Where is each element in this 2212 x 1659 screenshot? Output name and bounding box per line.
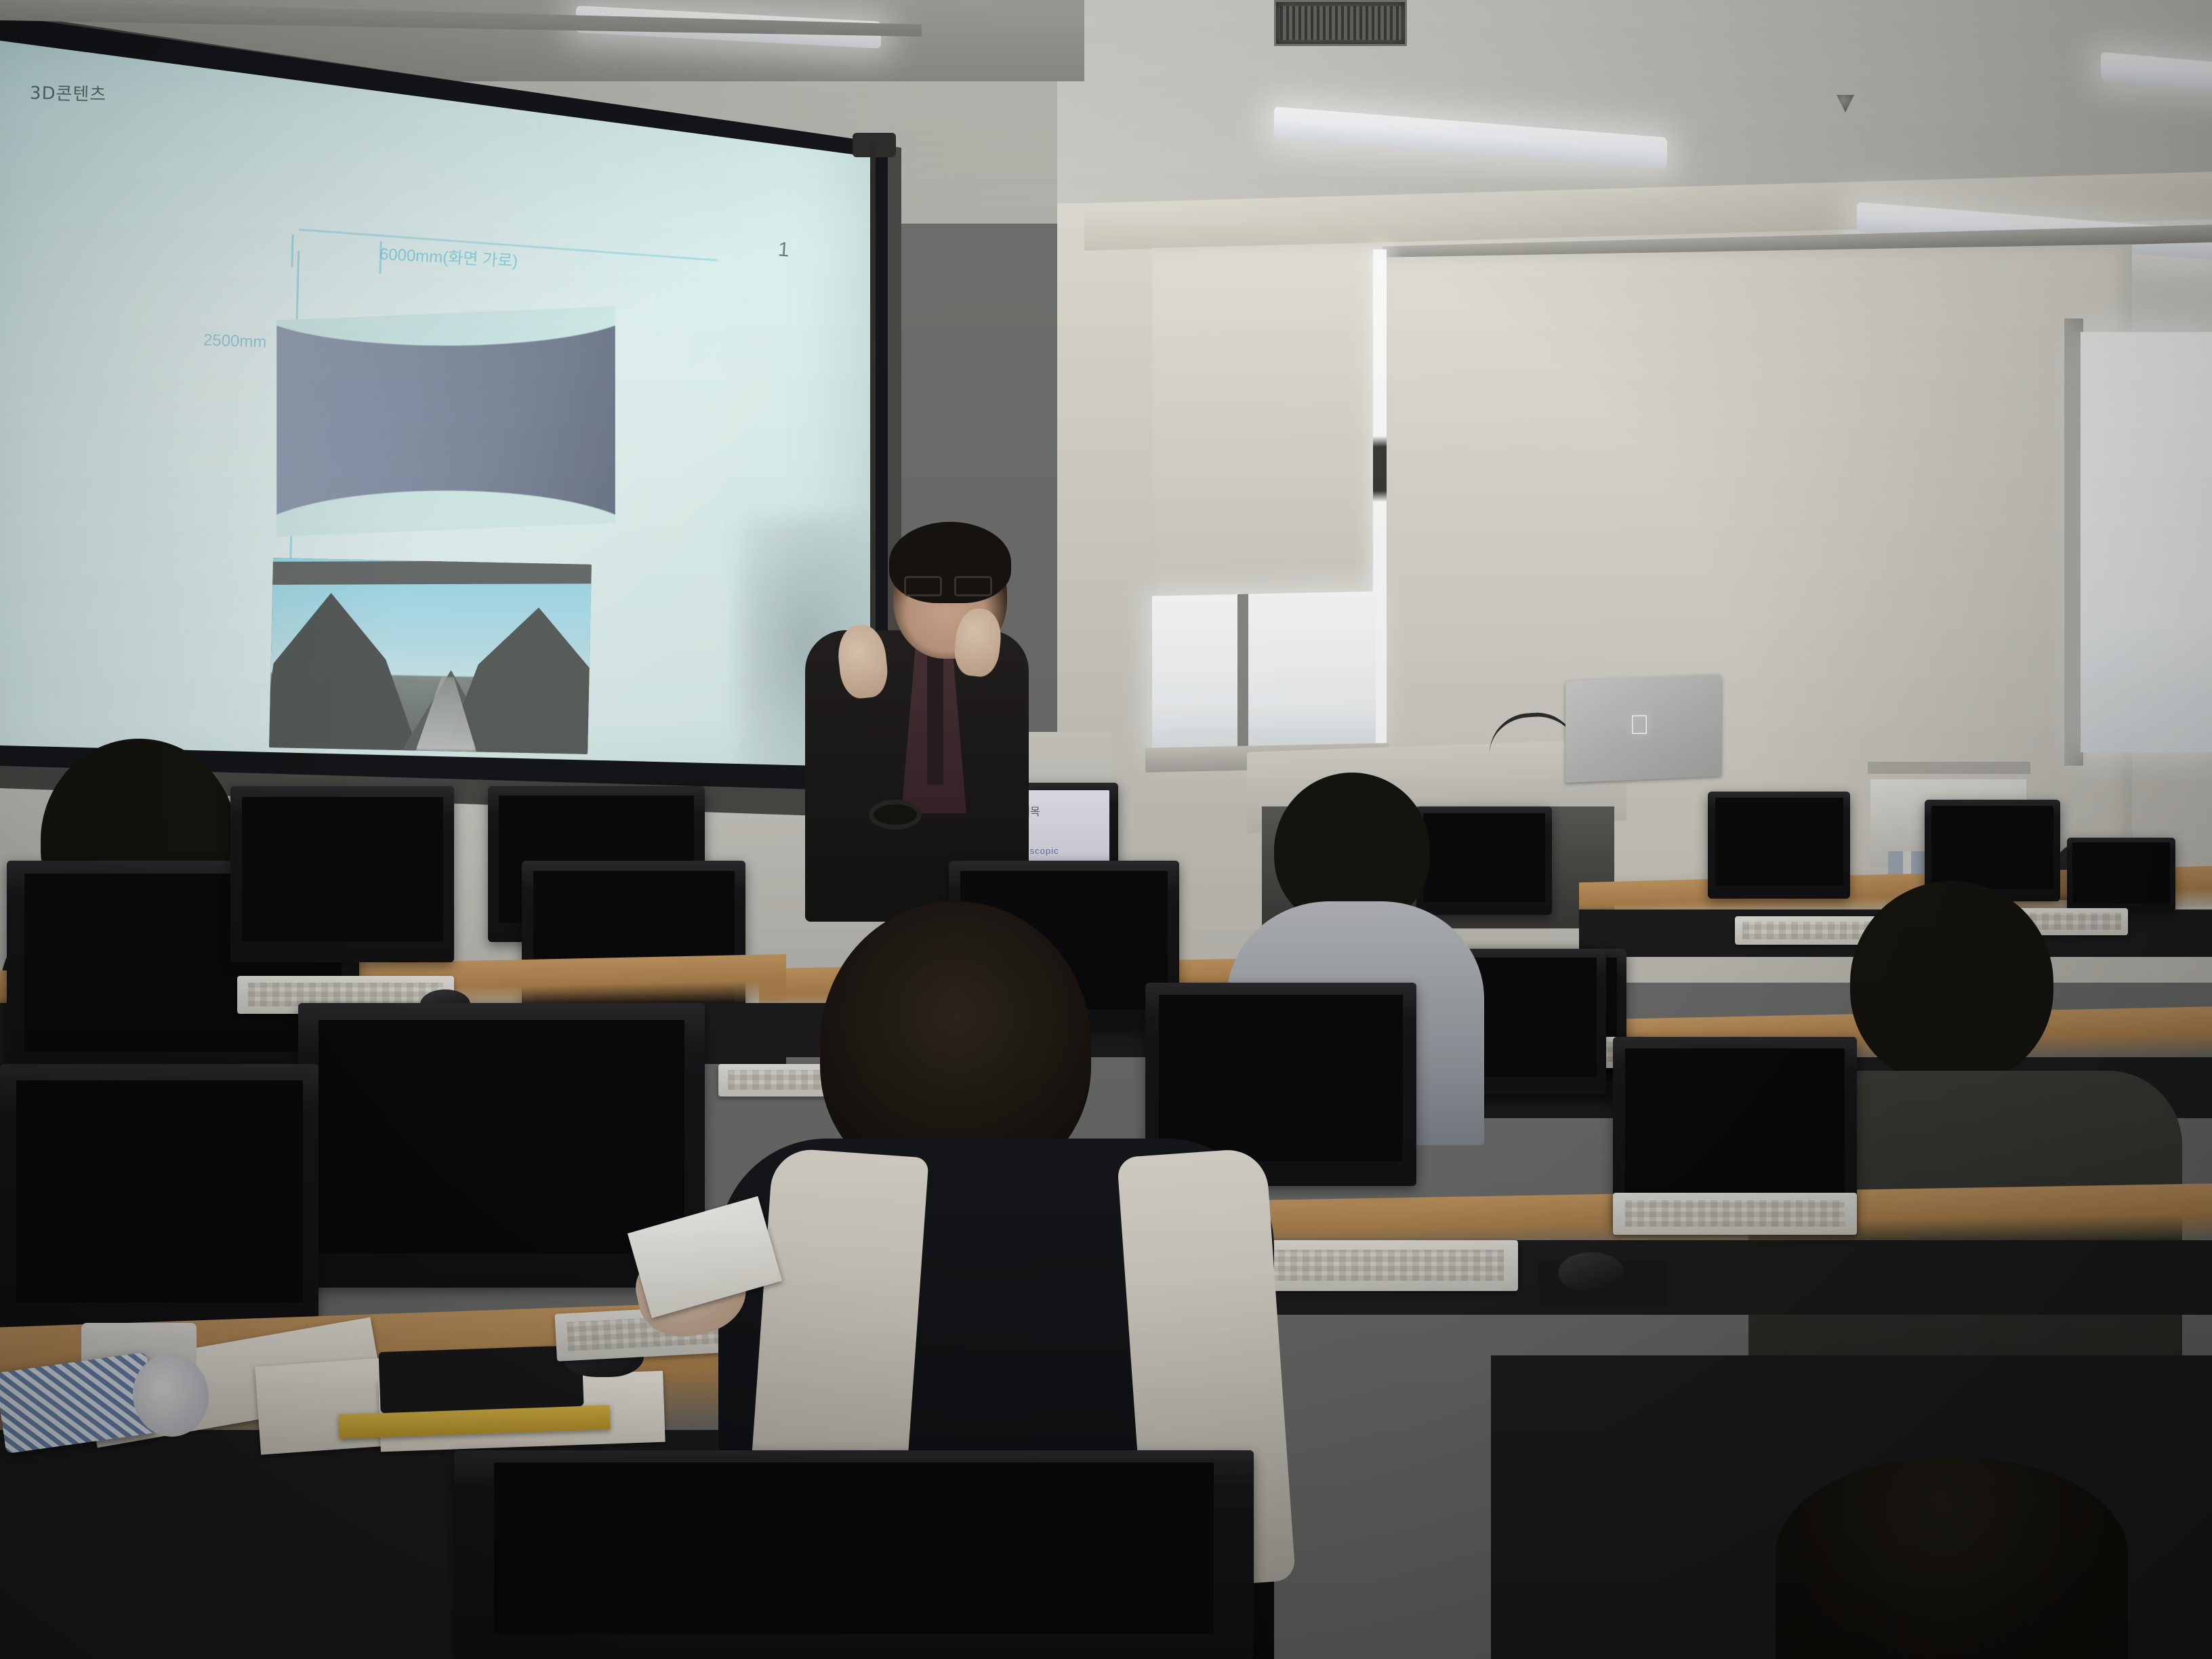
monitor-panel (2072, 842, 2170, 903)
monitor-left-4[interactable] (0, 1064, 319, 1335)
curved-screen-graphic (276, 306, 615, 537)
photo-top-band (272, 560, 592, 585)
classroom-photo: 3D콘텐츠 1 6000mm(화면 가로) 2500mm 편광은색 스크린 편광… (0, 0, 2212, 1659)
mouse-row3[interactable] (1559, 1252, 1624, 1290)
student-far-right-head (1850, 881, 2053, 1084)
monitor-panel (1625, 1048, 1845, 1204)
monitor-back-3[interactable] (2067, 838, 2175, 912)
monitor-panel (16, 1080, 303, 1303)
monitor-panel (494, 1462, 1214, 1634)
dimension-label-vertical: 2500mm (203, 331, 267, 352)
presenter-belt-buckle (869, 800, 922, 829)
monitor-panel (1159, 995, 1403, 1162)
presenter-glasses-icon (904, 576, 992, 592)
projection-screen: 3D콘텐츠 1 6000mm(화면 가로) 2500mm 편광은색 스크린 편광… (0, 41, 874, 786)
mousepad-foreground (379, 1345, 584, 1413)
monitor-left-2[interactable] (230, 786, 454, 962)
presenter-tie (927, 649, 943, 785)
monitor-foreground[interactable] (454, 1450, 1254, 1659)
ceiling-vent-icon (1274, 0, 1407, 46)
apple-logo-icon:  (1626, 712, 1652, 740)
monitor-panel (242, 797, 443, 941)
monitor-back-1[interactable] (1708, 792, 1850, 899)
window-left (1152, 592, 1376, 752)
printer-shelf (1868, 762, 2030, 774)
keyboard-row3-2[interactable] (1613, 1193, 1857, 1235)
monitor-panel (1423, 813, 1545, 902)
slide-tag: 3D콘텐츠 (30, 79, 107, 106)
slide-photo (269, 558, 592, 754)
slide-number: 1 (777, 238, 790, 262)
monitor-panel (1931, 806, 2053, 889)
dimension-tick (291, 234, 293, 267)
monitor-panel (1715, 798, 1843, 886)
window-right (2081, 332, 2212, 752)
monitor-mid-1[interactable] (1416, 806, 1552, 915)
student-back-row-head-front (1776, 1457, 2128, 1659)
monitor-panel (319, 1020, 684, 1253)
